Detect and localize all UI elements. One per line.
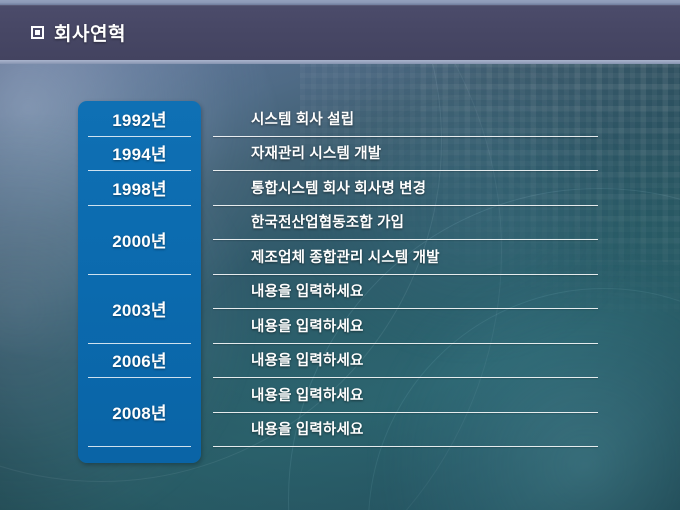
timeline-entry-text: 제조업체 종합관리 시스템 개발 bbox=[213, 246, 440, 267]
timeline-entry[interactable]: 한국전산업협동조합 가입 bbox=[213, 205, 598, 240]
year-label: 2008년 bbox=[112, 399, 166, 424]
timeline-entry-text: 통합시스템 회사 회사명 변경 bbox=[213, 177, 426, 198]
year-label: 1992년 bbox=[112, 106, 166, 131]
timeline-entry[interactable]: 내용을 입력하세요 bbox=[213, 274, 598, 309]
page-title: 회사연혁 bbox=[54, 19, 126, 46]
year-label: 1998년 bbox=[112, 175, 166, 200]
filled-square-icon bbox=[31, 26, 44, 39]
timeline-entry[interactable]: 내용을 입력하세요 bbox=[213, 377, 598, 412]
year-cell[interactable]: 2000년 bbox=[78, 205, 201, 274]
year-label: 2003년 bbox=[112, 296, 166, 321]
timeline-entry[interactable]: 내용을 입력하세요 bbox=[213, 308, 598, 343]
timeline-entry-text: 한국전산업협동조합 가입 bbox=[213, 211, 404, 232]
year-panel: 1992년 1994년 1998년 2000년 2003년 2006년 2008… bbox=[78, 101, 201, 463]
timeline-entry[interactable]: 통합시스템 회사 회사명 변경 bbox=[213, 170, 598, 205]
entry-separator bbox=[213, 446, 598, 447]
timeline-entry-text: 내용을 입력하세요 bbox=[213, 384, 364, 405]
timeline-entry-text: 시스템 회사 설립 bbox=[213, 108, 354, 129]
year-cell[interactable]: 2003년 bbox=[78, 274, 201, 343]
timeline-entry[interactable]: 자재관리 시스템 개발 bbox=[213, 136, 598, 171]
title-bar: 회사연혁 bbox=[0, 5, 680, 60]
year-label: 2000년 bbox=[112, 227, 166, 252]
year-cell[interactable]: 1998년 bbox=[78, 170, 201, 205]
timeline-entry-text: 내용을 입력하세요 bbox=[213, 418, 364, 439]
timeline-entry-text: 내용을 입력하세요 bbox=[213, 280, 364, 301]
year-separator bbox=[88, 446, 191, 447]
timeline-entry[interactable]: 시스템 회사 설립 bbox=[213, 101, 598, 136]
timeline-entry-text: 내용을 입력하세요 bbox=[213, 315, 364, 336]
timeline-entry-text: 내용을 입력하세요 bbox=[213, 349, 364, 370]
year-label: 1994년 bbox=[112, 140, 166, 165]
year-label: 2006년 bbox=[112, 347, 166, 372]
year-cell[interactable]: 1992년 bbox=[78, 101, 201, 136]
title-bar-bottom-strip bbox=[0, 60, 680, 64]
year-cell[interactable]: 2006년 bbox=[78, 343, 201, 378]
timeline-entry-text: 자재관리 시스템 개발 bbox=[213, 142, 381, 163]
timeline-entry[interactable]: 내용을 입력하세요 bbox=[213, 412, 598, 447]
slide-canvas: 회사연혁 1992년 1994년 1998년 2000년 2003년 2006년… bbox=[0, 0, 680, 510]
year-cell[interactable]: 1994년 bbox=[78, 136, 201, 171]
timeline-entry[interactable]: 내용을 입력하세요 bbox=[213, 343, 598, 378]
year-cell[interactable]: 2008년 bbox=[78, 377, 201, 446]
timeline-entry[interactable]: 제조업체 종합관리 시스템 개발 bbox=[213, 239, 598, 274]
